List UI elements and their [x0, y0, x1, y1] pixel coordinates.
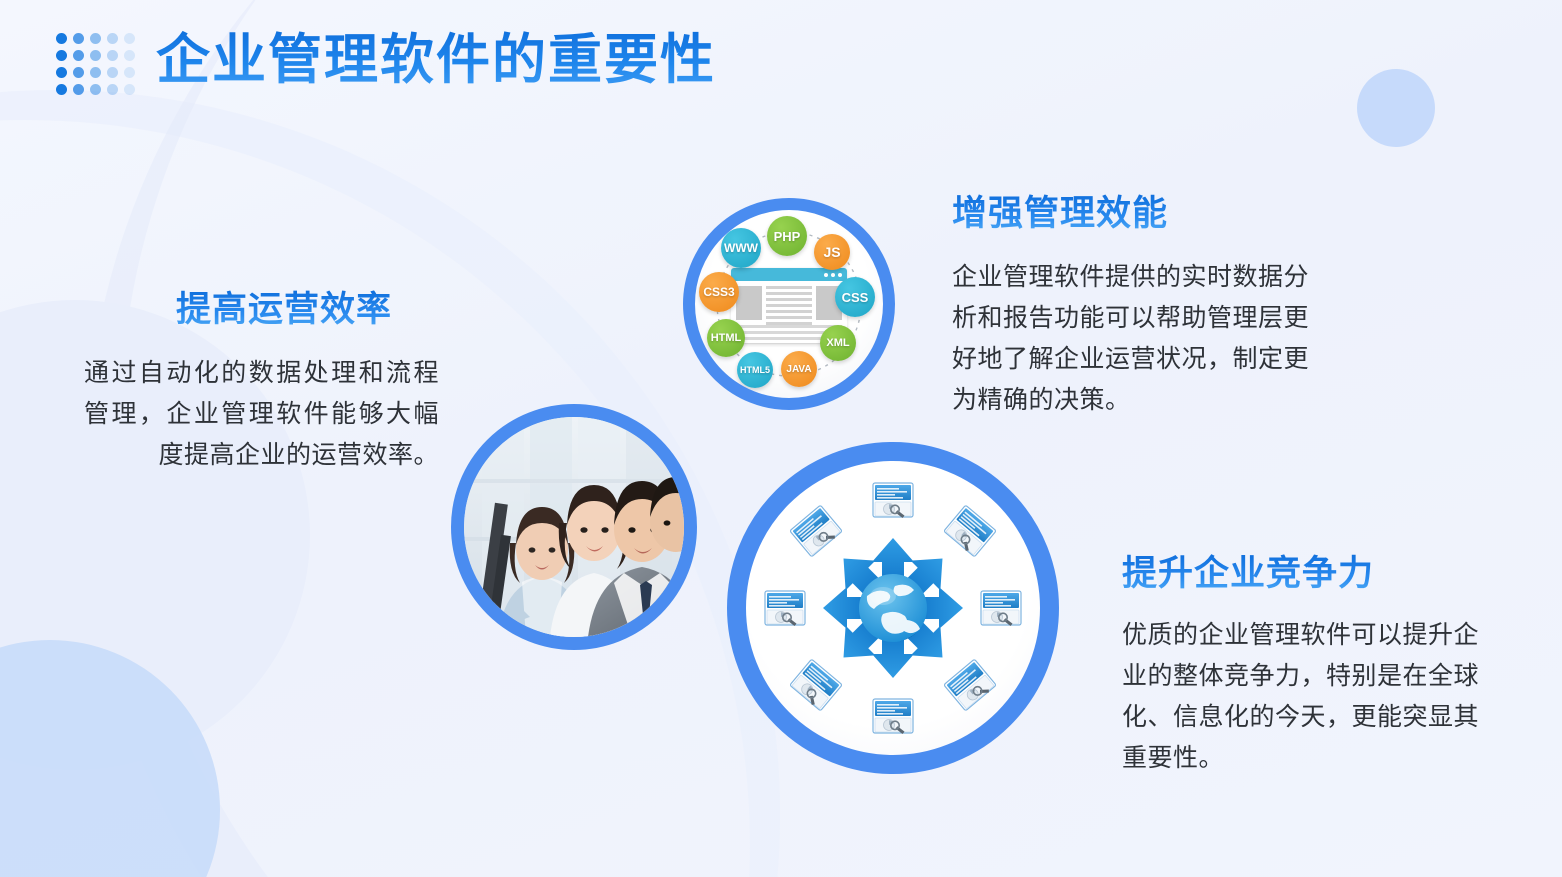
- block-heading: 提升企业竞争力: [1122, 552, 1522, 596]
- terminal-southeast: [944, 659, 997, 712]
- page-title: 企业管理软件的重要性: [156, 27, 716, 93]
- block-body: 优质的企业管理软件可以提升企业的整体竞争力，特别是在全球化、信息化的今天，更能突…: [1122, 614, 1504, 778]
- terminal-east: [981, 591, 1021, 626]
- globe-icon: [859, 574, 927, 642]
- tech-tag-www: WWW: [721, 228, 761, 268]
- slide-canvas: 企业管理软件的重要性 提高运营效率 通过自动化的数据处理和流程管理，企业管理软件…: [0, 0, 1562, 877]
- global-network-illustration: [727, 442, 1059, 774]
- block-body: 通过自动化的数据处理和流程管理，企业管理软件能够大幅度提高企业的运营效率。: [60, 352, 439, 475]
- background-circle-bottom-left: [0, 640, 220, 877]
- content-block-operating-efficiency: 提高运营效率 通过自动化的数据处理和流程管理，企业管理软件能够大幅度提高企业的运…: [60, 288, 460, 475]
- content-block-competitiveness: 提升企业竞争力 优质的企业管理软件可以提升企业的整体竞争力，特别是在全球化、信息…: [1122, 552, 1522, 778]
- team-photo-artwork: [464, 417, 684, 637]
- terminal-southwest: [789, 659, 842, 712]
- block-heading: 增强管理效能: [952, 192, 1352, 236]
- content-block-management-effectiveness: 增强管理效能 企业管理软件提供的实时数据分析和报告功能可以帮助管理层更好地了解企…: [952, 192, 1352, 420]
- tech-tag-css3: CSS3: [699, 272, 739, 312]
- web-technologies-illustration: PHP JS CSS XML JAVA HTML5 HTML CSS3 WWW: [683, 198, 895, 410]
- terminal-northeast: [943, 505, 996, 558]
- tech-tag-html: HTML: [707, 319, 745, 357]
- tech-tag-css: CSS: [835, 277, 875, 317]
- tech-tag-html5: HTML5: [737, 352, 773, 388]
- tech-tag-js: JS: [814, 234, 850, 270]
- global-network-artwork: [746, 461, 1040, 755]
- terminal-west: [765, 591, 805, 626]
- terminal-south: [873, 699, 913, 734]
- block-body: 企业管理软件提供的实时数据分析和报告功能可以帮助管理层更好地了解企业运营状况，制…: [952, 256, 1320, 420]
- terminal-northwest: [790, 505, 843, 558]
- tech-tag-xml: XML: [820, 325, 856, 361]
- block-heading: 提高运营效率: [60, 288, 460, 332]
- tech-tag-php: PHP: [767, 216, 807, 256]
- business-team-photo: [451, 404, 697, 650]
- team-photo-image: [464, 417, 684, 637]
- terminal-north: [873, 483, 913, 518]
- web-illustration-inner: PHP JS CSS XML JAVA HTML5 HTML CSS3 WWW: [695, 210, 883, 398]
- dot-grid-icon: [56, 33, 141, 101]
- tech-tag-java: JAVA: [781, 351, 817, 387]
- background-circle-top-right: [1357, 69, 1435, 147]
